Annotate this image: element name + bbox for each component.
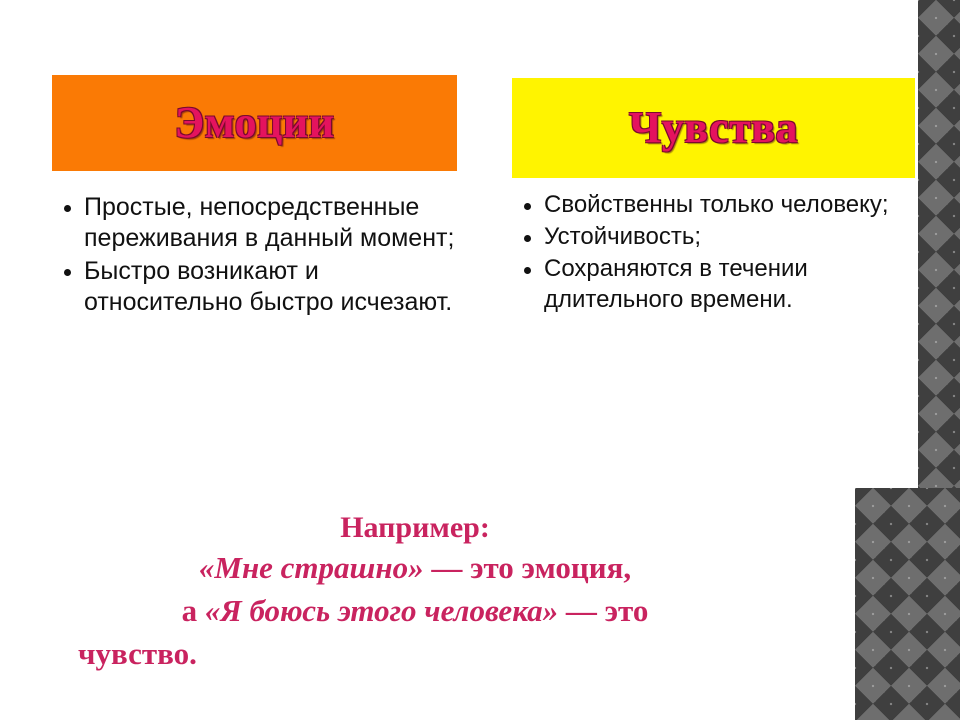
example-line-2: а «Я боюсь этого человека» — это [0, 590, 830, 633]
example-line-3: чувство. [0, 633, 830, 676]
example-block: Например: «Мне страшно» — это эмоция, а … [0, 508, 830, 675]
example-quote-2: «Я боюсь этого человека» [205, 593, 558, 628]
column-feelings: Свойственны только человеку; Устойчивост… [518, 190, 910, 317]
column-emotions: Простые, непосредственные переживания в … [58, 192, 458, 320]
bullet-list-emotions: Простые, непосредственные переживания в … [58, 192, 458, 318]
bullet-item: Сохраняются в течении длительного времен… [518, 254, 910, 314]
example-line-1: «Мне страшно» — это эмоция, [0, 547, 830, 590]
example-rest-1: — это эмоция, [424, 550, 632, 585]
bullet-item: Быстро возникают и относительно быстро и… [58, 256, 458, 318]
bullet-item: Свойственны только человеку; [518, 190, 910, 220]
example-heading: Например: [0, 508, 830, 547]
bullet-item: Устойчивость; [518, 222, 910, 252]
bullet-item: Простые, непосредственные переживания в … [58, 192, 458, 254]
example-rest-2: — это [558, 593, 648, 628]
slide-canvas: Эмоции Чувства Простые, непосредственные… [0, 0, 960, 720]
example-prefix-2: а [182, 593, 205, 628]
header-title-feelings: Чувства [629, 106, 798, 150]
example-quote-1: «Мне страшно» [199, 550, 424, 585]
argyle-pattern-border-bottom-right [855, 488, 960, 720]
bullet-list-feelings: Свойственны только человеку; Устойчивост… [518, 190, 910, 315]
header-box-emotions: Эмоции [52, 75, 457, 171]
argyle-pattern-border-right [918, 0, 960, 492]
header-title-emotions: Эмоции [174, 101, 334, 145]
header-box-feelings: Чувства [512, 78, 915, 178]
